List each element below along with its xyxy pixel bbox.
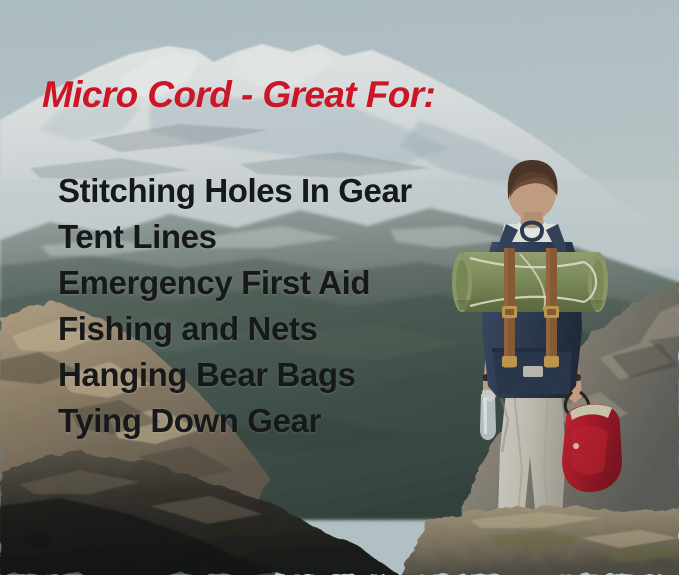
color-grade	[0, 0, 679, 575]
mountain-landscape-photo	[0, 0, 679, 575]
poster-image: Micro Cord - Great For: Stitching Holes …	[0, 0, 679, 575]
